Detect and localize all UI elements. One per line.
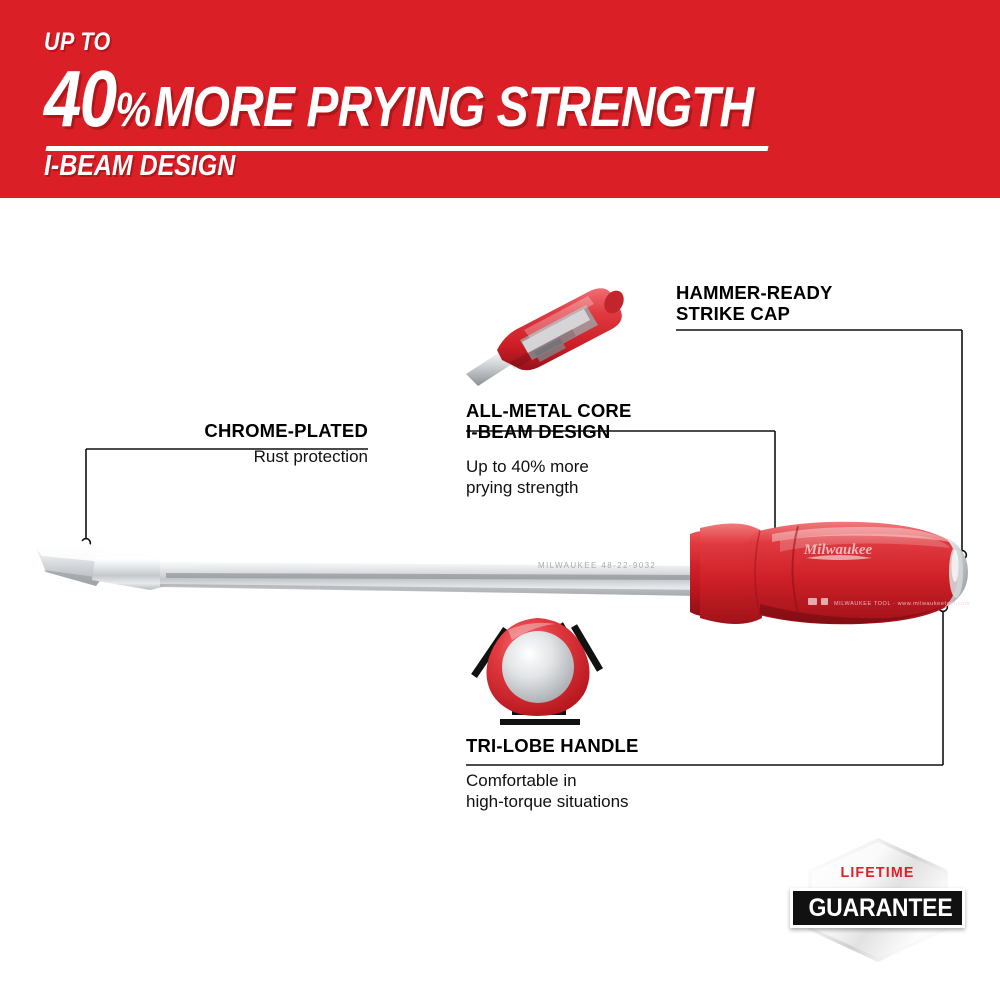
callout-tri-lobe-body-line1: Comfortable in — [466, 770, 639, 791]
callout-hammer-ready-strike-cap: HAMMER-READY STRIKE CAP — [676, 282, 833, 324]
callout-all-metal-core-body-line1: Up to 40% more — [466, 456, 632, 477]
badge-guarantee-bar: GUARANTEE — [790, 888, 965, 928]
svg-text:MILWAUKEE 48-22-9032: MILWAUKEE 48-22-9032 — [538, 561, 656, 570]
callout-hammer-ready-title-line2: STRIKE CAP — [676, 303, 833, 324]
callout-chrome-plated: CHROME-PLATED Rust protection — [128, 420, 368, 467]
cutaway-core-illustration — [466, 287, 628, 386]
callout-tri-lobe-title: TRI-LOBE HANDLE — [466, 735, 639, 756]
callout-tri-lobe-handle: TRI-LOBE HANDLE Comfortable in high-torq… — [466, 735, 639, 812]
callout-hammer-ready-title-line1: HAMMER-READY — [676, 282, 833, 303]
tri-lobe-cross-section — [474, 618, 600, 722]
callout-chrome-plated-title: CHROME-PLATED — [128, 420, 368, 441]
tool-handle: Milwaukee MILWAUKEE TOOL · www.milwaukee… — [690, 522, 970, 625]
badge-lifetime-text: LIFETIME — [794, 864, 960, 881]
svg-text:MILWAUKEE TOOL · www.milwaukee: MILWAUKEE TOOL · www.milwaukeetool.com — [834, 601, 970, 607]
callout-all-metal-core-title-line2: I-BEAM DESIGN — [466, 421, 632, 442]
lifetime-guarantee-badge: LIFETIME GUARANTEE — [790, 838, 965, 962]
callout-all-metal-core-title-line1: ALL-METAL CORE — [466, 400, 632, 421]
callout-all-metal-core-body-line2: prying strength — [466, 477, 632, 498]
callout-all-metal-core: ALL-METAL CORE I-BEAM DESIGN Up to 40% m… — [466, 400, 632, 498]
badge-guarantee-text: GUARANTEE — [800, 891, 961, 925]
callout-chrome-plated-body: Rust protection — [128, 446, 368, 467]
product-infographic: UP TO 40%MORE PRYING STRENGTH I-BEAM DES… — [0, 0, 1000, 1000]
pry-bar: MILWAUKEE 48-22-9032 USA — [36, 536, 700, 596]
callout-tri-lobe-body-line2: high-torque situations — [466, 791, 639, 812]
